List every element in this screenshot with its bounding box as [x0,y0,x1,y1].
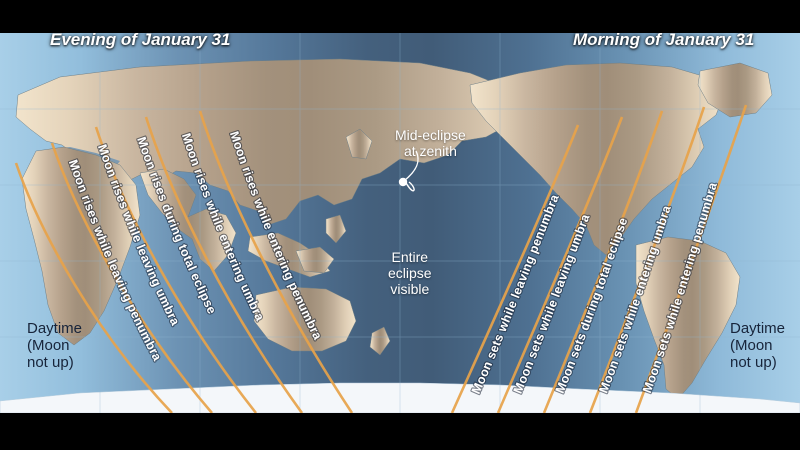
letterbox-top [0,0,800,33]
letterbox-bottom [0,413,800,450]
zenith-dot [399,178,407,186]
map-canvas: Moon rises while leaving penumbra Moon r… [0,33,800,413]
eclipse-map-figure: Moon rises while leaving penumbra Moon r… [0,0,800,450]
world-map: Moon rises while leaving penumbra Moon r… [0,33,800,413]
